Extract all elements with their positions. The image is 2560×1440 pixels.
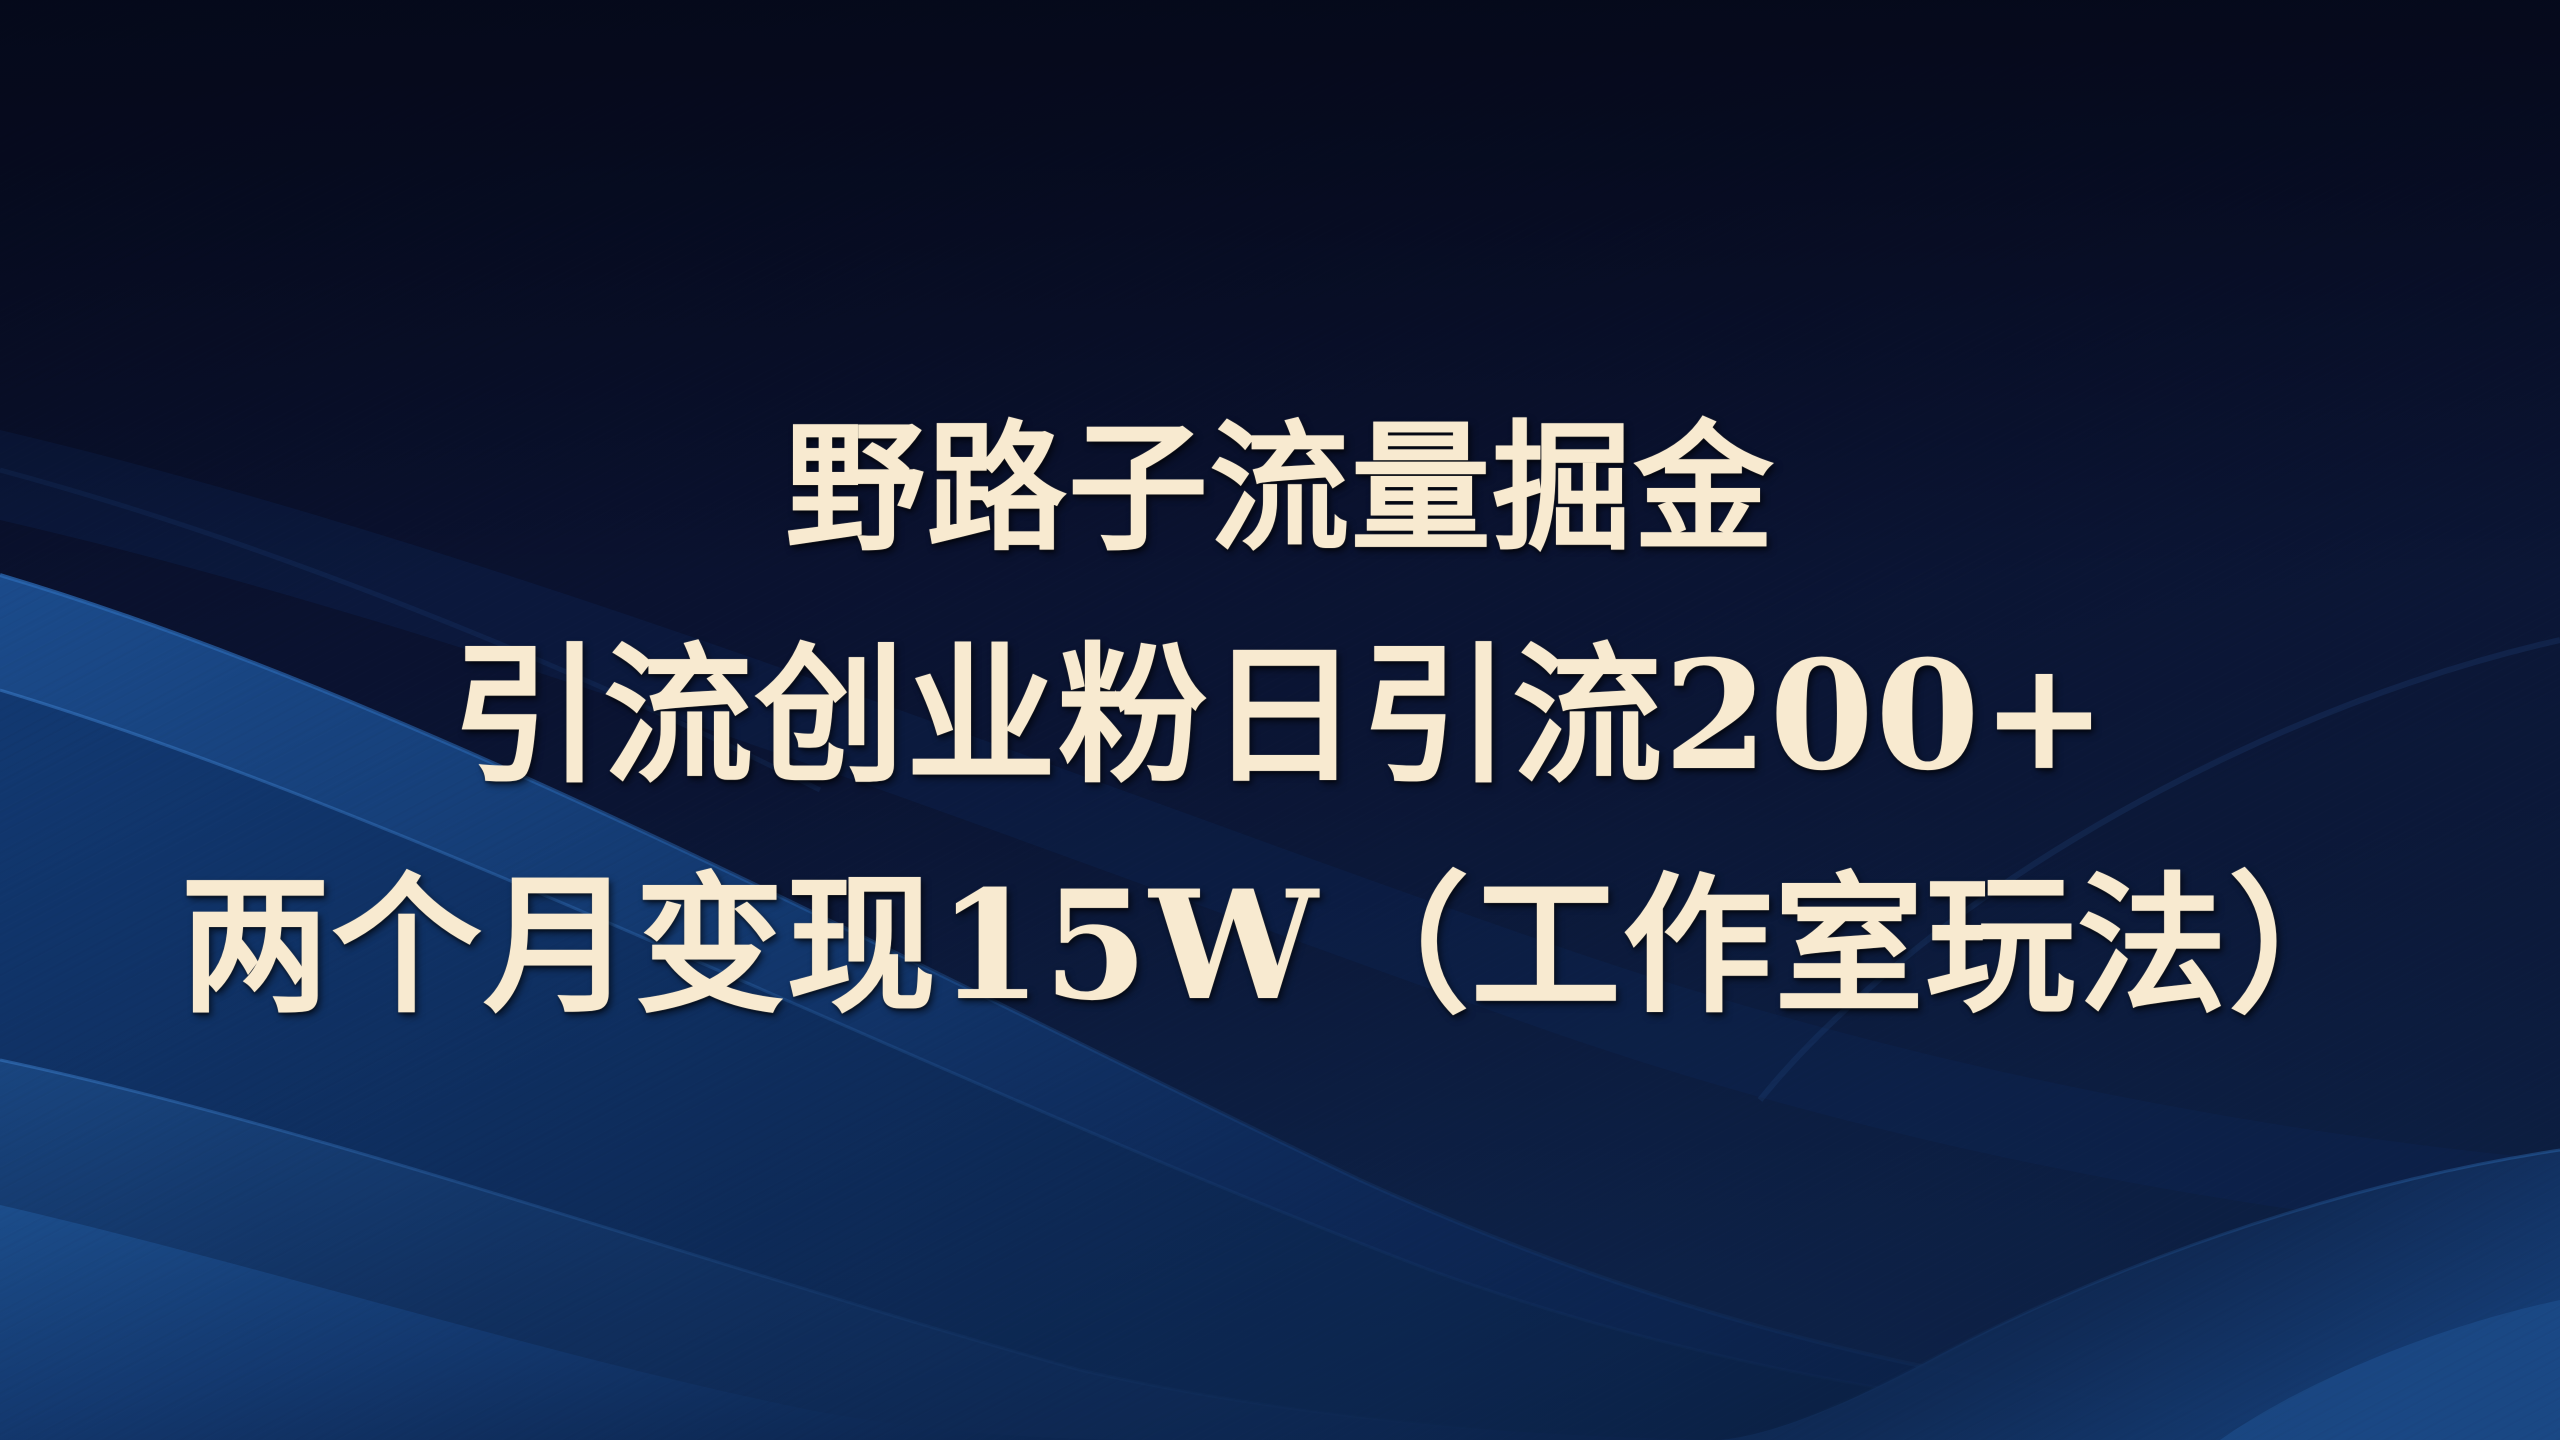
headline-line-1: 野路子流量掘金	[785, 419, 1775, 559]
headline-block: 野路子流量掘金 引流创业粉日引流200+ 两个月变现15W（工作室玩法）	[0, 0, 2560, 1440]
headline-line-3: 两个月变现15W（工作室玩法）	[180, 871, 2380, 1021]
poster-canvas: 野路子流量掘金 引流创业粉日引流200+ 两个月变现15W（工作室玩法）	[0, 0, 2560, 1440]
headline-line-2: 引流创业粉日引流200+	[452, 641, 2109, 791]
